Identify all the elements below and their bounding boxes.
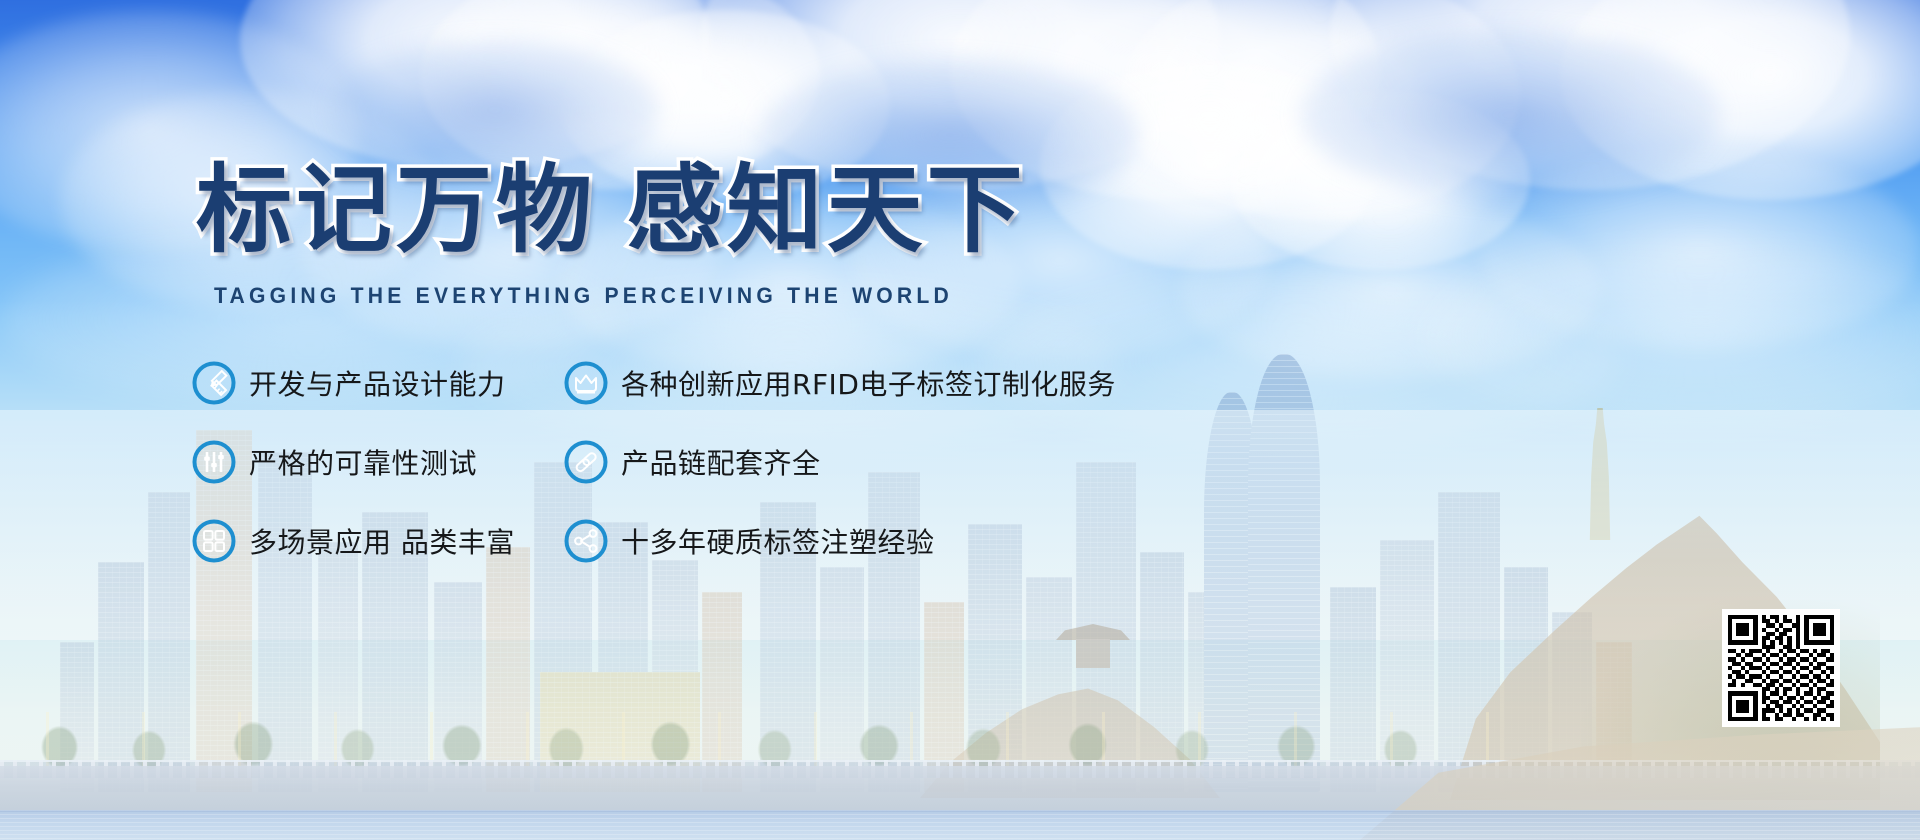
feature-item-design: 开发与产品设计能力 (192, 356, 564, 410)
feature-item-product-chain: 产品链配套齐全 (564, 435, 1492, 489)
chain-link-icon (564, 440, 608, 484)
feature-row: 开发与产品设计能力 各种创新应用RFID电子标签订制化服务 (192, 356, 1492, 410)
feature-row: 严格的可靠性测试 (192, 435, 1492, 489)
feature-label: 多场景应用 品类丰富 (249, 521, 515, 561)
promo-banner: 标记万物 感知天下 TAGGING THE EVERYTHING PERCEIV… (0, 0, 1920, 840)
feature-label: 十多年硬质标签注塑经验 (621, 521, 935, 561)
feature-item-rfid-service: 各种创新应用RFID电子标签订制化服务 (564, 356, 1492, 410)
ruler-pencil-icon (192, 361, 236, 405)
page-title: 标记万物 感知天下 (196, 160, 1027, 262)
feature-item-reliability-test: 严格的可靠性测试 (192, 435, 564, 489)
feature-list: 开发与产品设计能力 各种创新应用RFID电子标签订制化服务 (192, 356, 1492, 593)
sliders-icon (192, 440, 236, 484)
crown-icon (564, 361, 608, 405)
share-nodes-icon (564, 519, 608, 563)
feature-label: 各种创新应用RFID电子标签订制化服务 (621, 363, 1116, 403)
qr-code[interactable] (1722, 609, 1840, 727)
feature-label: 产品链配套齐全 (621, 442, 821, 482)
qr-code-matrix (1728, 615, 1834, 721)
feature-item-multi-scenario: 多场景应用 品类丰富 (192, 514, 564, 568)
page-subtitle: TAGGING THE EVERYTHING PERCEIVING THE WO… (214, 283, 953, 309)
feature-label: 严格的可靠性测试 (249, 442, 477, 482)
feature-item-molding-experience: 十多年硬质标签注塑经验 (564, 514, 1492, 568)
grid-squares-icon (192, 519, 236, 563)
feature-row: 多场景应用 品类丰富 (192, 514, 1492, 568)
feature-label: 开发与产品设计能力 (249, 363, 506, 403)
